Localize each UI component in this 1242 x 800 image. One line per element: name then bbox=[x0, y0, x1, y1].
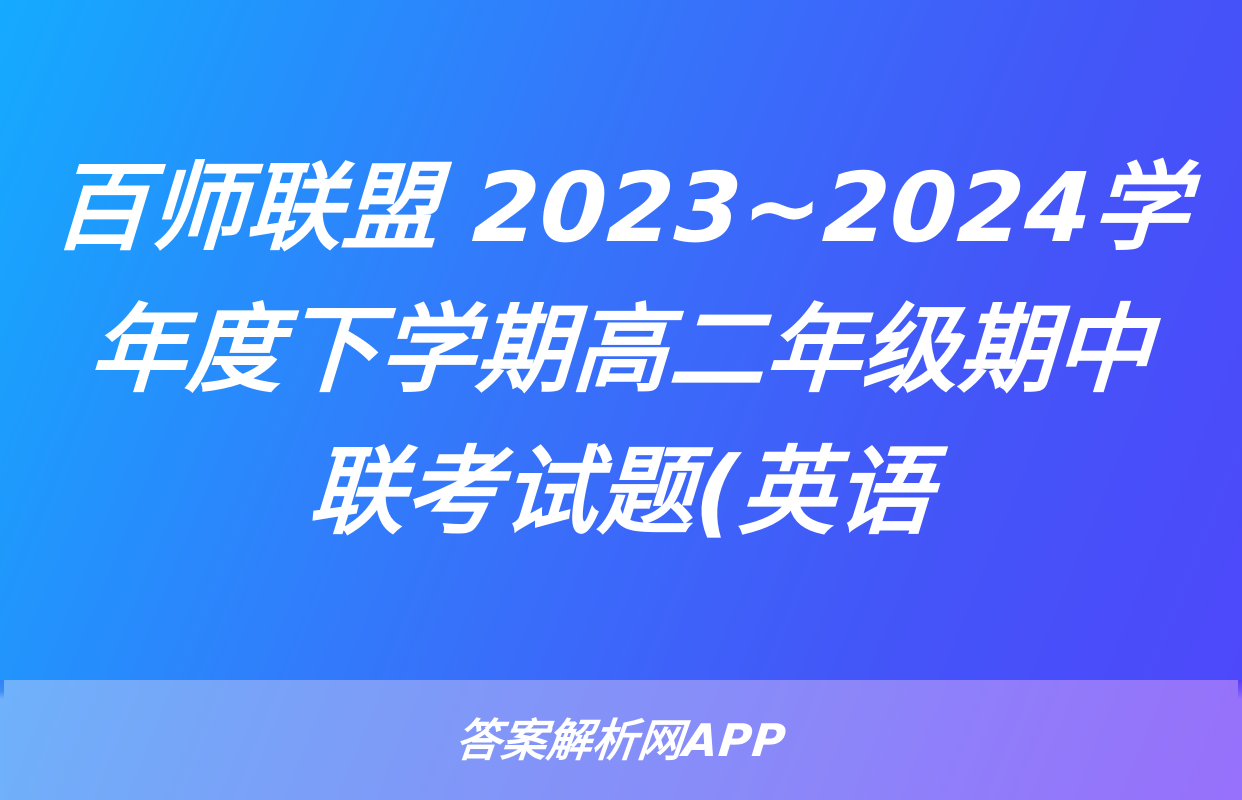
watermark-container: 答案解析网APP bbox=[0, 680, 1242, 800]
title-line-1: 百师联盟 2023~2024学 bbox=[49, 137, 1192, 279]
title-line-3: 联考试题(英语 bbox=[306, 421, 937, 563]
title-line-2: 年度下学期高二年级期中 bbox=[87, 279, 1156, 421]
watermark-brand-text: 答案解析网APP bbox=[454, 718, 789, 763]
poster-title: 百师联盟 2023~2024学 年度下学期高二年级期中 联考试题(英语 bbox=[0, 0, 1242, 680]
footer-band: 答案解析网APP bbox=[0, 680, 1242, 800]
hero-gradient-band: 百师联盟 2023~2024学 年度下学期高二年级期中 联考试题(英语 bbox=[0, 0, 1242, 680]
poster-canvas: 百师联盟 2023~2024学 年度下学期高二年级期中 联考试题(英语 答案解析… bbox=[0, 0, 1242, 800]
